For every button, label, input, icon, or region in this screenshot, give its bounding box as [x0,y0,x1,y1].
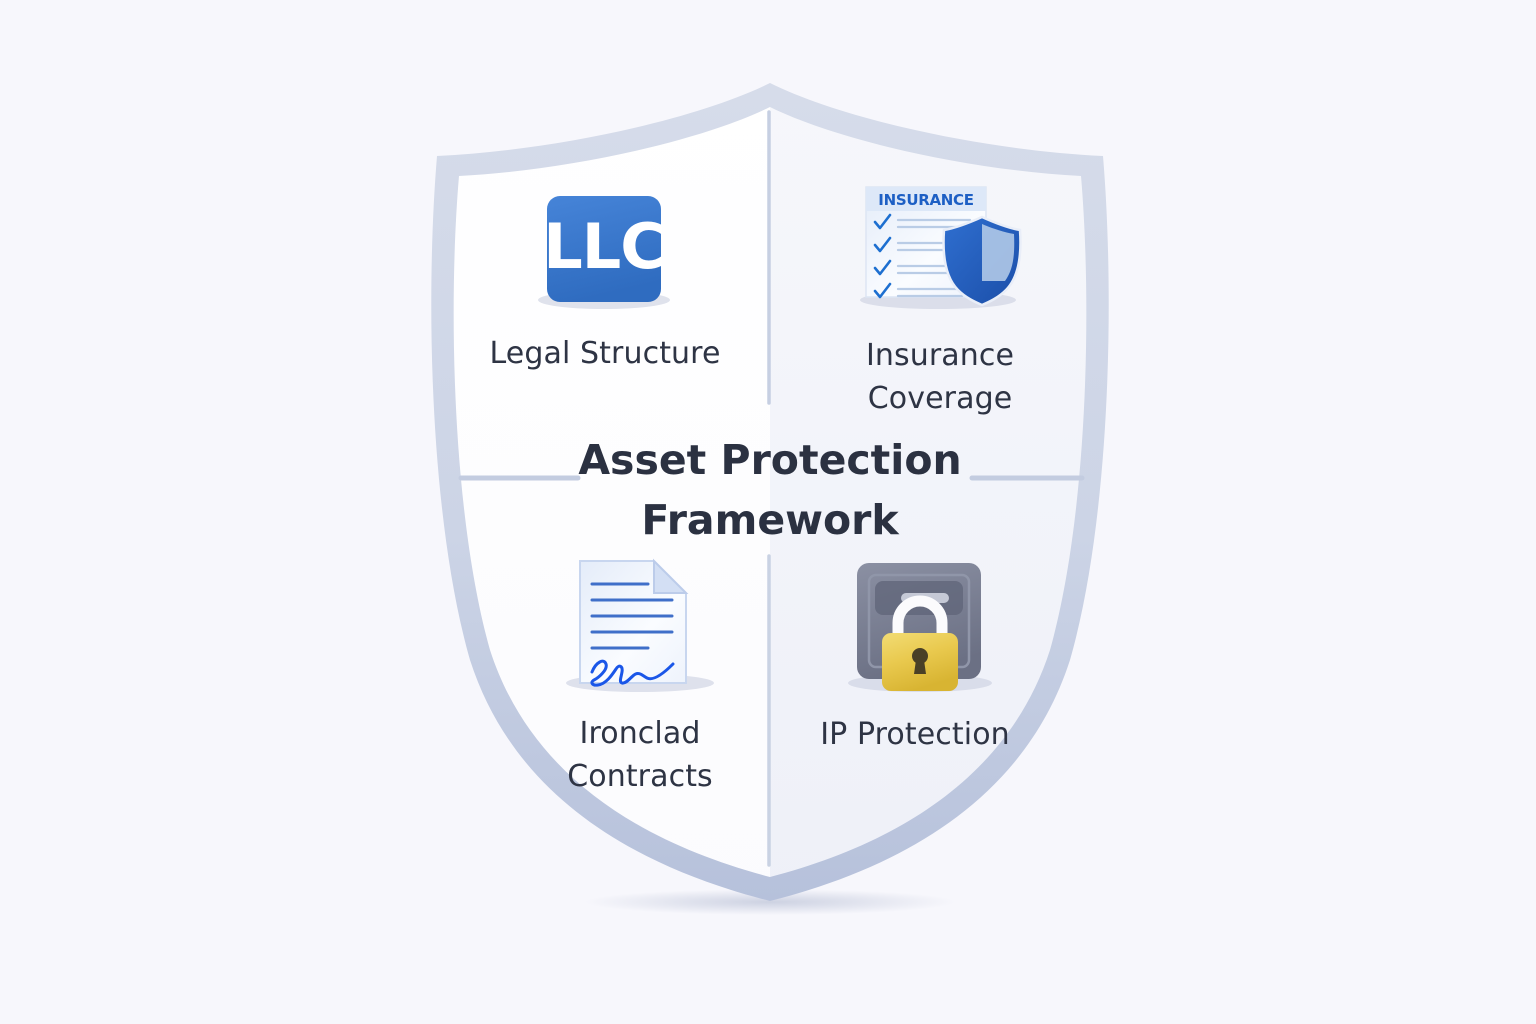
quadrant-label-insurance-coverage: Insurance Coverage [790,334,1090,420]
quadrant-label-legal-structure: Legal Structure [455,332,755,375]
svg-text:INSURANCE: INSURANCE [878,191,973,209]
quadrant-label-ironclad-contracts: Ironclad Contracts [500,712,780,798]
svg-text:LLC: LLC [543,210,665,283]
quadrant-label-ip-protection: IP Protection [780,713,1050,756]
diagram-center-title: Asset Protection Framework [468,430,1072,550]
llc-badge-icon: LLC [538,196,670,309]
safe-vault-padlock-icon [848,563,992,692]
diagram-canvas: LLC INSURANCE [0,0,1536,1024]
